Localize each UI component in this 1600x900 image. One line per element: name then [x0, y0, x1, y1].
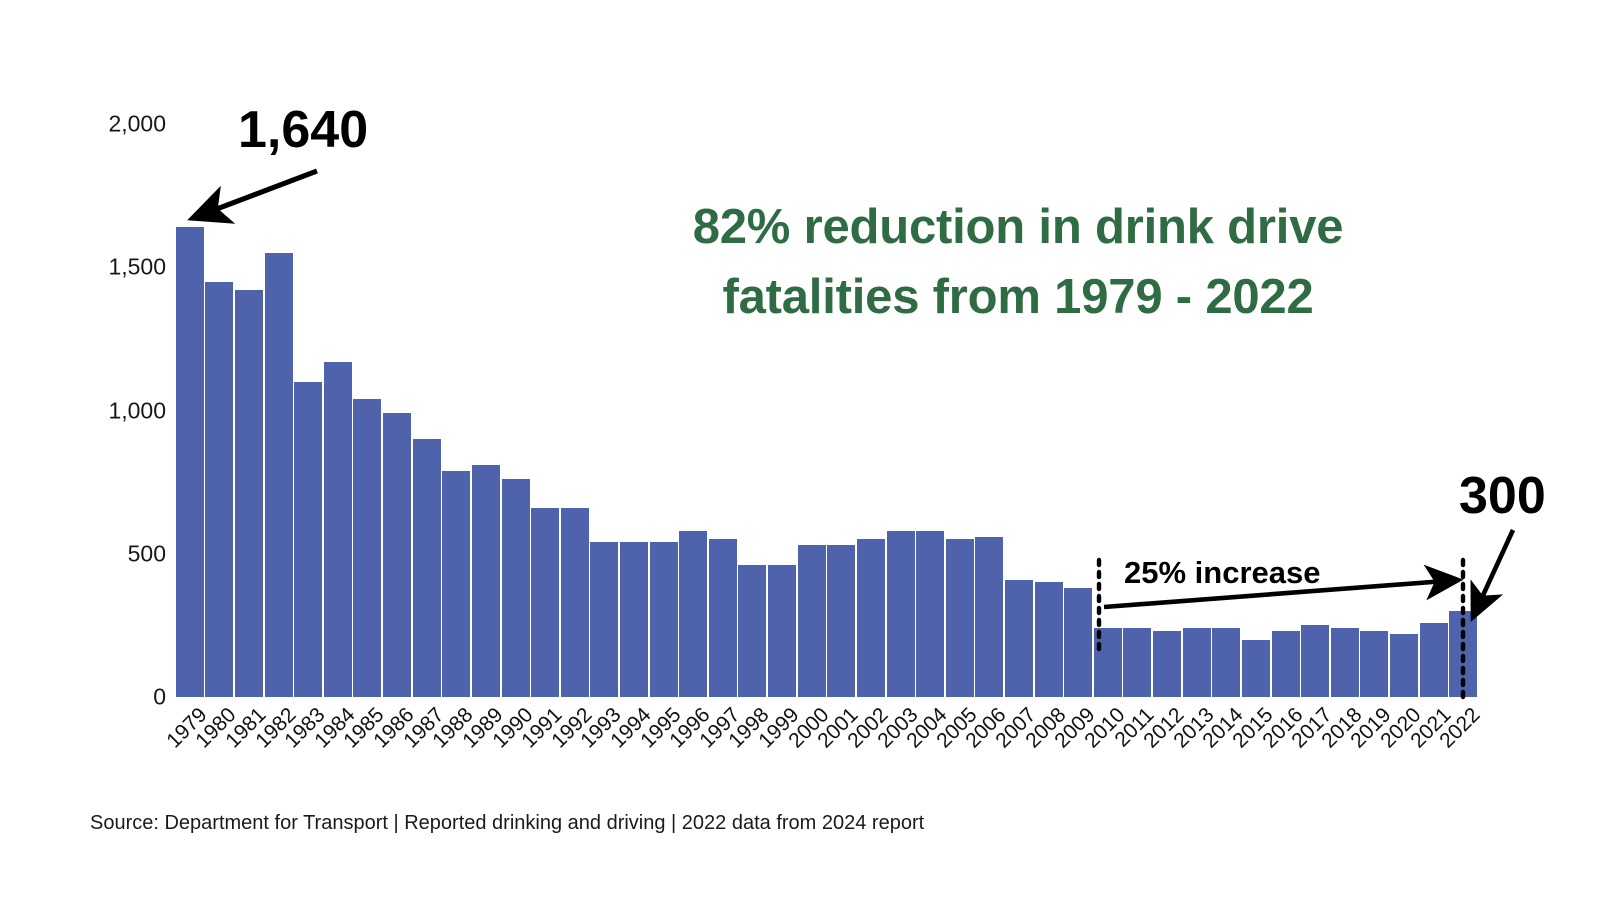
bar [235, 290, 263, 697]
y-axis-tick-label: 1,000 [46, 399, 166, 422]
headline-line-2: fatalities from 1979 - 2022 [548, 263, 1488, 333]
bar [502, 479, 530, 697]
peak-value-callout: 1,640 [238, 104, 368, 156]
bar [205, 282, 233, 697]
page-title: 82% reduction in drink drive fatalities … [548, 193, 1488, 332]
bar [353, 399, 381, 697]
bar [294, 382, 322, 697]
chart-container: 05001,0001,5002,000 19791980198119821983… [0, 0, 1600, 900]
headline-line-1: 82% reduction in drink drive [548, 193, 1488, 263]
increase-annotation-label: 25% increase [1124, 557, 1320, 588]
latest-callout-arrow [1473, 530, 1513, 617]
bar [442, 471, 470, 697]
bar [531, 508, 559, 697]
bar [176, 227, 204, 697]
source-note: Source: Department for Transport | Repor… [90, 812, 924, 835]
bar [383, 413, 411, 697]
latest-value-callout: 300 [1459, 470, 1546, 522]
bar [472, 465, 500, 697]
bar [561, 508, 589, 697]
y-axis-tick-label: 1,500 [46, 256, 166, 279]
y-axis-tick-label: 2,000 [46, 113, 166, 136]
y-axis-tick-label: 0 [46, 686, 166, 709]
bar [265, 253, 293, 697]
y-axis-tick-label: 500 [46, 542, 166, 565]
bar [324, 362, 352, 697]
bar [413, 439, 441, 697]
